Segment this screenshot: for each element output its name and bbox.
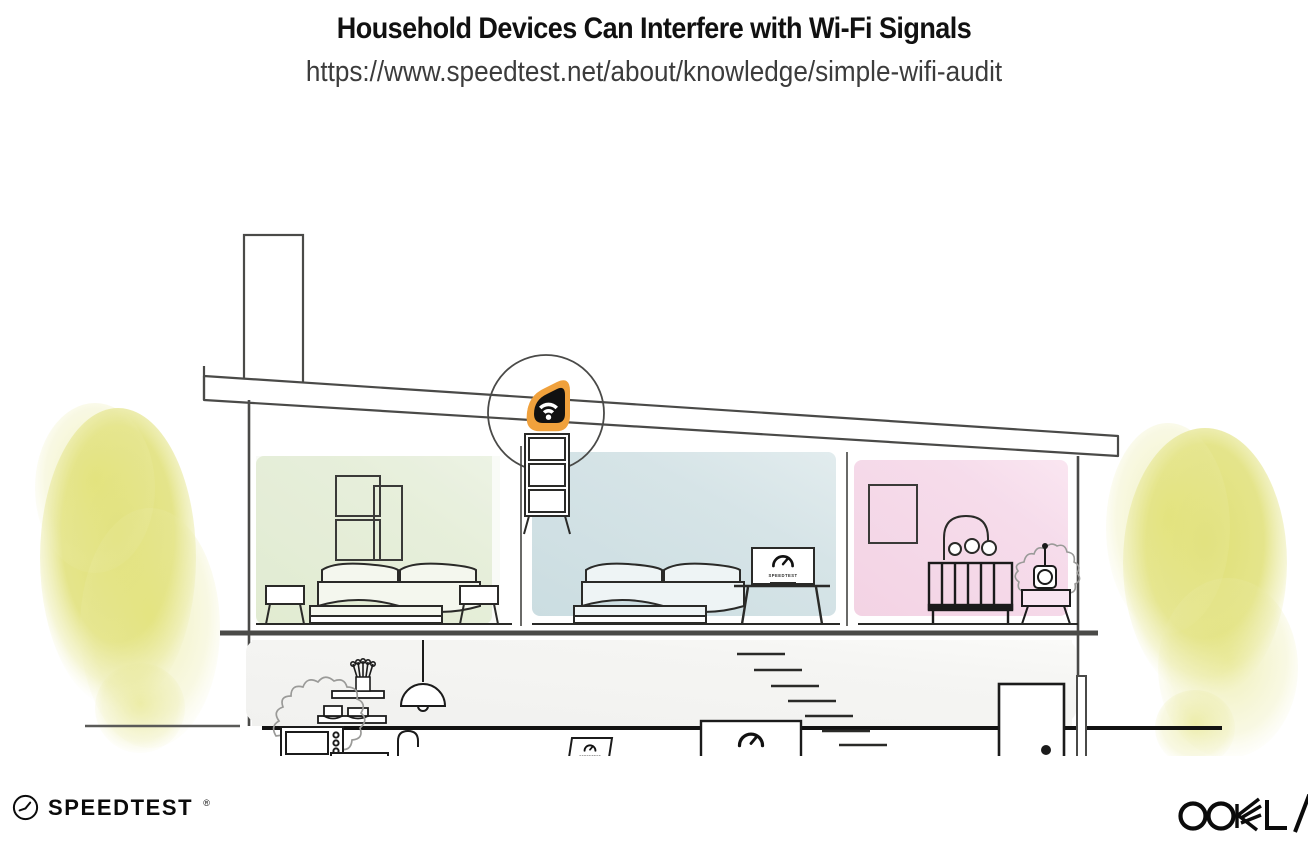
door-knob-icon — [1041, 745, 1051, 755]
footer: SPEEDTEST ® ® — [0, 780, 1308, 861]
wifi-router-icon[interactable] — [527, 380, 570, 431]
microwave-icon[interactable] — [281, 727, 343, 756]
infographic-page: Household Devices Can Interfere with Wi-… — [0, 0, 1308, 861]
kitchen-faucet-icon — [398, 731, 418, 756]
roof-slab — [204, 366, 1118, 456]
source-url: https://www.speedtest.net/about/knowledg… — [65, 48, 1242, 90]
nightstand-nursery — [1022, 590, 1070, 624]
monitor-screen-label: SPEEDTEST — [769, 573, 798, 578]
house-illustration: SPEEDTEST — [0, 108, 1308, 756]
ookla-logo[interactable]: ® — [1175, 794, 1308, 834]
header: Household Devices Can Interfere with Wi-… — [0, 0, 1308, 90]
speedtest-gauge-icon — [12, 794, 39, 821]
foliage-right-icon — [1106, 423, 1298, 756]
television-icon[interactable]: SPEEDTEST — [701, 721, 801, 756]
laptop-icon[interactable]: SPEEDTEST — [560, 738, 616, 756]
laptop-screen-label: SPEEDTEST — [579, 755, 601, 756]
entry-door[interactable] — [999, 684, 1064, 756]
speedtest-trademark: ® — [203, 798, 210, 808]
chimney — [244, 235, 303, 383]
speedtest-logo[interactable]: SPEEDTEST ® — [12, 794, 210, 821]
foliage-left-icon — [35, 403, 220, 753]
exterior-post-right — [1077, 676, 1086, 756]
desk-monitor-icon[interactable]: SPEEDTEST — [752, 548, 814, 585]
page-title: Household Devices Can Interfere with Wi-… — [65, 0, 1242, 48]
speedtest-wordmark: SPEEDTEST — [48, 795, 193, 821]
ookla-wordmark-icon — [1175, 794, 1308, 834]
